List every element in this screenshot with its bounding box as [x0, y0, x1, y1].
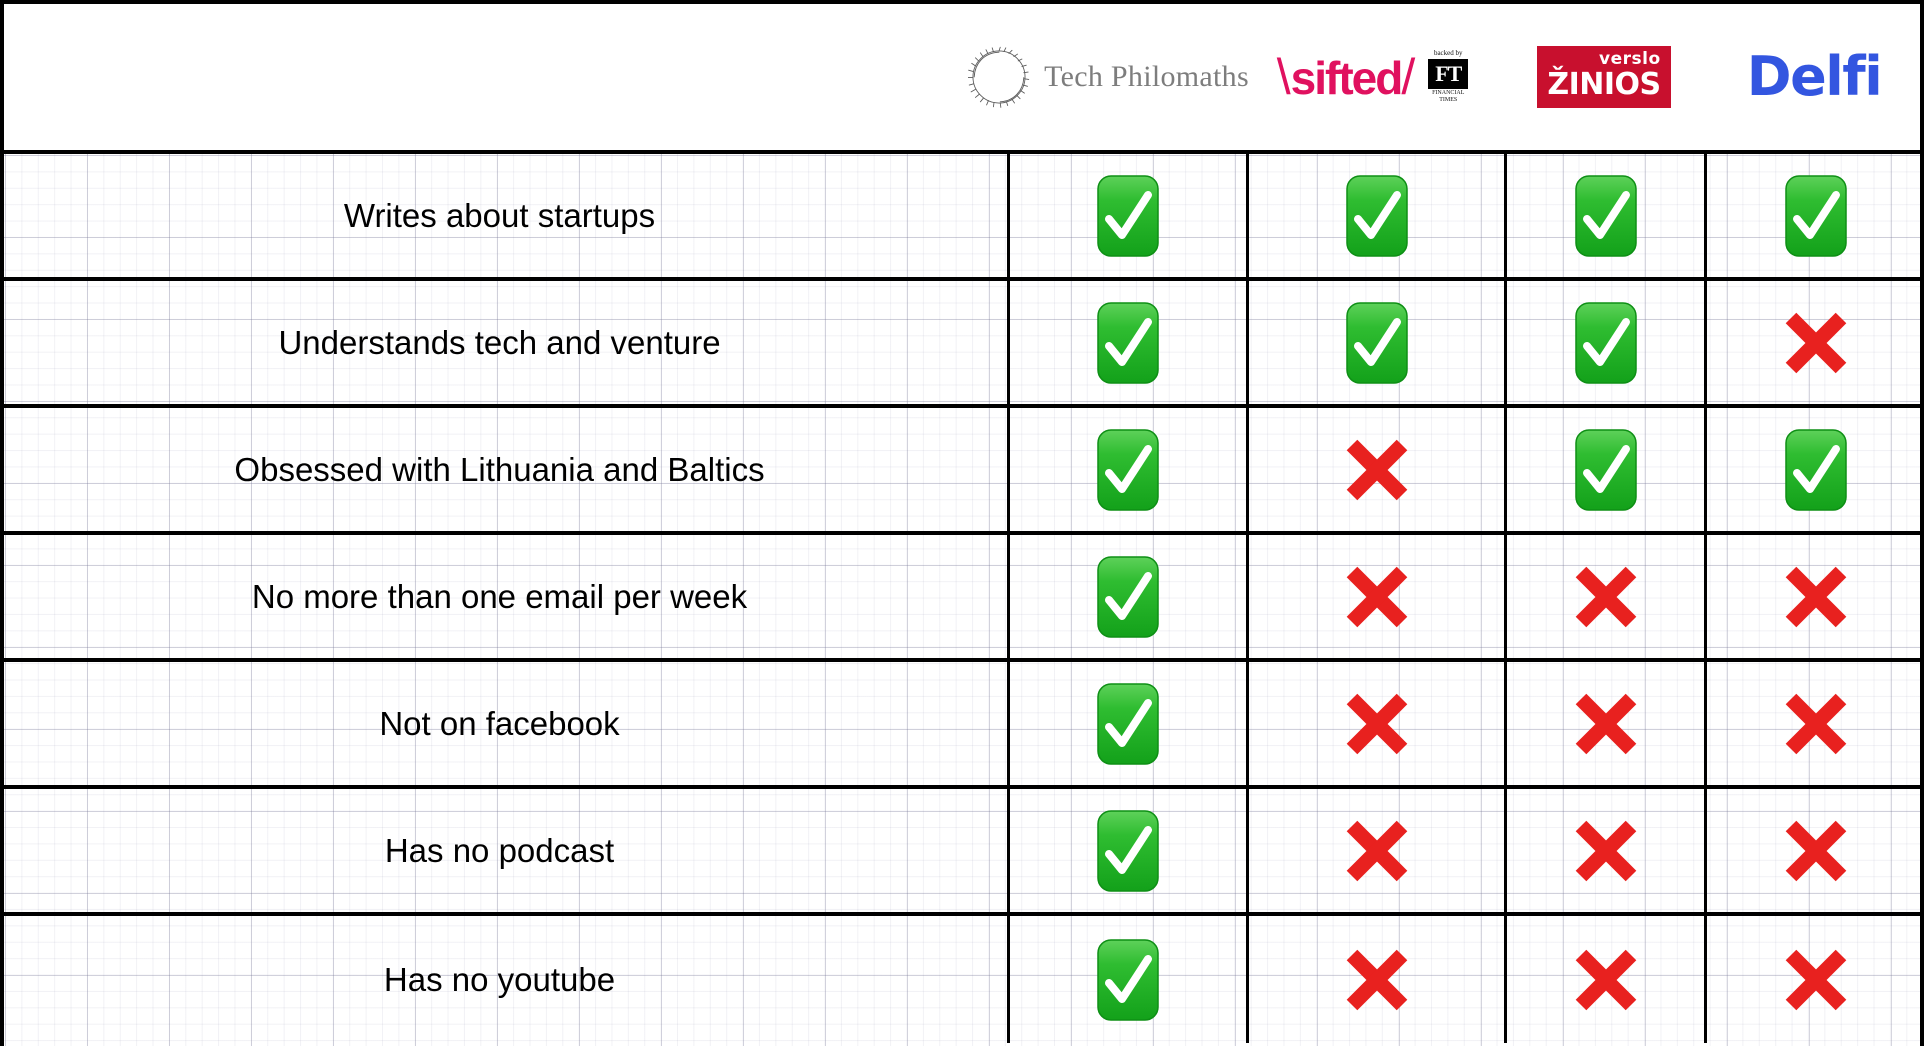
- ft-backed-by-label: backed by: [1434, 50, 1463, 58]
- cell-verslo-zinios[interactable]: [1504, 662, 1704, 785]
- table-body: Writes about startupsUnderstands tech an…: [4, 154, 1920, 1043]
- row-label-cell: Understands tech and venture: [4, 281, 1007, 404]
- table-row: Writes about startups: [4, 154, 1920, 281]
- table-header-row: Tech Philomaths \sifted/ backed by FT FI…: [4, 4, 1920, 154]
- red-cross-icon: [1781, 308, 1851, 378]
- table-row: Has no podcast: [4, 789, 1920, 916]
- cell-tech-philomaths[interactable]: [1007, 535, 1246, 658]
- cell-sifted[interactable]: [1246, 154, 1504, 277]
- cell-sifted[interactable]: [1246, 916, 1504, 1043]
- row-label-cell: Obsessed with Lithuania and Baltics: [4, 408, 1007, 531]
- cell-delfi[interactable]: [1704, 789, 1924, 912]
- row-label-cell: No more than one email per week: [4, 535, 1007, 658]
- row-label-cell: Writes about startups: [4, 154, 1007, 277]
- green-check-icon: [1097, 683, 1159, 765]
- sifted-wordmark: \sifted/: [1277, 52, 1416, 102]
- comparison-table-sheet: Tech Philomaths \sifted/ backed by FT FI…: [0, 0, 1924, 1046]
- green-check-icon: [1346, 175, 1408, 257]
- ft-badge: backed by FT FINANCIAL TIMES: [1423, 50, 1473, 103]
- delfi-label: Delfi: [1747, 50, 1881, 104]
- cell-tech-philomaths[interactable]: [1007, 281, 1246, 404]
- cell-verslo-zinios[interactable]: [1504, 916, 1704, 1043]
- cell-verslo-zinios[interactable]: [1504, 535, 1704, 658]
- row-label: Has no podcast: [385, 832, 614, 870]
- row-label-cell: Has no podcast: [4, 789, 1007, 912]
- row-label: No more than one email per week: [252, 578, 747, 616]
- sifted-slash-left: \: [1277, 49, 1291, 105]
- red-cross-icon: [1342, 689, 1412, 759]
- cell-verslo-zinios[interactable]: [1504, 789, 1704, 912]
- cell-sifted[interactable]: [1246, 281, 1504, 404]
- cell-delfi[interactable]: [1704, 662, 1924, 785]
- sifted-slash-right: /: [1401, 49, 1415, 105]
- table-row: No more than one email per week: [4, 535, 1920, 662]
- red-cross-icon: [1342, 562, 1412, 632]
- green-check-icon: [1097, 810, 1159, 892]
- row-label-cell: Has no youtube: [4, 916, 1007, 1043]
- red-cross-icon: [1342, 435, 1412, 505]
- cell-delfi[interactable]: [1704, 408, 1924, 531]
- column-header-verslo-zinios[interactable]: verslo ŽINIOS: [1504, 4, 1704, 150]
- cell-tech-philomaths[interactable]: [1007, 408, 1246, 531]
- red-cross-icon: [1571, 689, 1641, 759]
- red-cross-icon: [1342, 945, 1412, 1015]
- red-cross-icon: [1571, 816, 1641, 886]
- red-cross-icon: [1571, 562, 1641, 632]
- tech-philomaths-label: Tech Philomaths: [1044, 60, 1249, 94]
- green-check-icon: [1097, 429, 1159, 511]
- sifted-label: sifted: [1291, 52, 1402, 104]
- green-check-icon: [1575, 302, 1637, 384]
- cell-verslo-zinios[interactable]: [1504, 281, 1704, 404]
- sketch-circle-icon: [968, 46, 1030, 108]
- green-check-icon: [1575, 175, 1637, 257]
- red-cross-icon: [1781, 945, 1851, 1015]
- table-row: Has no youtube: [4, 916, 1920, 1043]
- cell-sifted[interactable]: [1246, 662, 1504, 785]
- row-label: Has no youtube: [384, 961, 615, 999]
- green-check-icon: [1785, 175, 1847, 257]
- cell-sifted[interactable]: [1246, 535, 1504, 658]
- green-check-icon: [1575, 429, 1637, 511]
- red-cross-icon: [1342, 816, 1412, 886]
- header-corner-cell: [4, 4, 1007, 150]
- cell-tech-philomaths[interactable]: [1007, 916, 1246, 1043]
- cell-tech-philomaths[interactable]: [1007, 662, 1246, 785]
- cell-sifted[interactable]: [1246, 408, 1504, 531]
- red-cross-icon: [1781, 689, 1851, 759]
- green-check-icon: [1097, 939, 1159, 1021]
- table-row: Obsessed with Lithuania and Baltics: [4, 408, 1920, 535]
- ft-financial-times-label: FINANCIAL TIMES: [1423, 90, 1473, 104]
- cell-tech-philomaths[interactable]: [1007, 789, 1246, 912]
- ft-monogram: FT: [1428, 59, 1468, 89]
- cell-delfi[interactable]: [1704, 916, 1924, 1043]
- row-label: Understands tech and venture: [278, 324, 720, 362]
- red-cross-icon: [1781, 816, 1851, 886]
- green-check-icon: [1097, 175, 1159, 257]
- green-check-icon: [1346, 302, 1408, 384]
- red-cross-icon: [1571, 945, 1641, 1015]
- row-label: Not on facebook: [379, 705, 619, 743]
- cell-delfi[interactable]: [1704, 535, 1924, 658]
- green-check-icon: [1097, 302, 1159, 384]
- column-header-tech-philomaths[interactable]: Tech Philomaths: [1007, 4, 1246, 150]
- cell-verslo-zinios[interactable]: [1504, 154, 1704, 277]
- cell-verslo-zinios[interactable]: [1504, 408, 1704, 531]
- verslo-zinios-logo: verslo ŽINIOS: [1537, 46, 1670, 108]
- row-label-cell: Not on facebook: [4, 662, 1007, 785]
- green-check-icon: [1785, 429, 1847, 511]
- red-cross-icon: [1781, 562, 1851, 632]
- cell-tech-philomaths[interactable]: [1007, 154, 1246, 277]
- row-label: Writes about startups: [344, 197, 655, 235]
- cell-delfi[interactable]: [1704, 281, 1924, 404]
- cell-delfi[interactable]: [1704, 154, 1924, 277]
- zinios-label: ŽINIOS: [1547, 69, 1660, 101]
- row-label: Obsessed with Lithuania and Baltics: [234, 451, 764, 489]
- table-row: Understands tech and venture: [4, 281, 1920, 408]
- table-row: Not on facebook: [4, 662, 1920, 789]
- green-check-icon: [1097, 556, 1159, 638]
- cell-sifted[interactable]: [1246, 789, 1504, 912]
- column-header-delfi[interactable]: Delfi: [1704, 4, 1924, 150]
- column-header-sifted[interactable]: \sifted/ backed by FT FINANCIAL TIMES: [1246, 4, 1504, 150]
- verslo-label: verslo: [1599, 51, 1661, 68]
